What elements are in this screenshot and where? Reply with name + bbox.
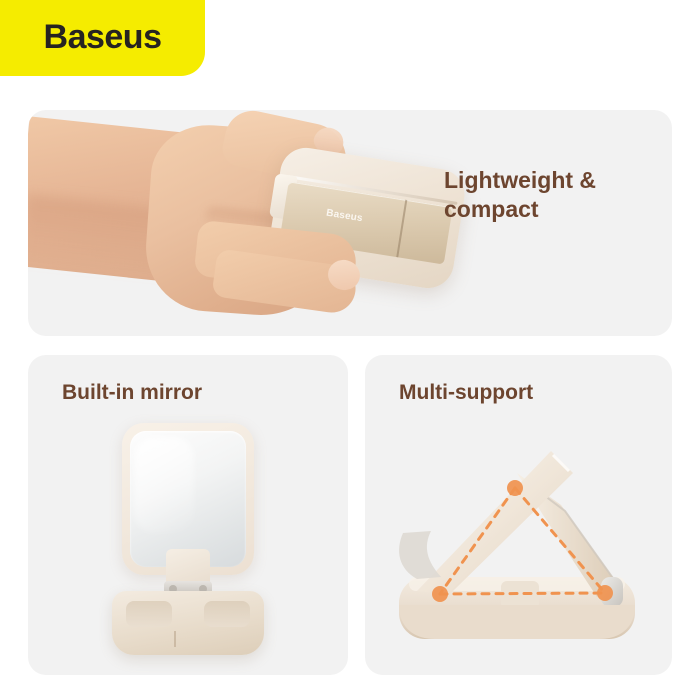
mirror-base <box>112 591 264 655</box>
triangle-vertex-bottom-right <box>597 585 613 601</box>
hero-heading: Lightweight & compact <box>444 166 634 224</box>
base-seam <box>174 631 176 647</box>
device-panel-seam <box>396 200 407 258</box>
product-feature-poster: Baseus Baseus Lightweight & compact <box>0 0 700 700</box>
triangle-vertex-apex <box>507 480 523 496</box>
triangle-stand-illustration <box>365 355 672 675</box>
base-slot-left <box>126 601 172 627</box>
brand-banner: Baseus <box>0 0 205 76</box>
brand-wordmark: Baseus <box>44 20 162 54</box>
stand-base-front-face <box>399 605 635 639</box>
panel-multi-support: Multi-support <box>365 355 672 675</box>
panel-lightweight-compact: Baseus Lightweight & compact <box>28 110 672 336</box>
triangle-vertex-bottom-left <box>432 586 448 602</box>
mirror-glare-highlight <box>134 437 194 533</box>
mirror-product-illustration <box>28 355 348 675</box>
triangle-stand-svg <box>365 355 672 675</box>
panel-built-in-mirror: Built-in mirror <box>28 355 348 675</box>
device-brand-label: Baseus <box>325 208 363 225</box>
phone-cradle-lip <box>399 531 441 579</box>
base-slot-right <box>204 601 250 627</box>
center-kickstand-tab <box>501 581 539 609</box>
